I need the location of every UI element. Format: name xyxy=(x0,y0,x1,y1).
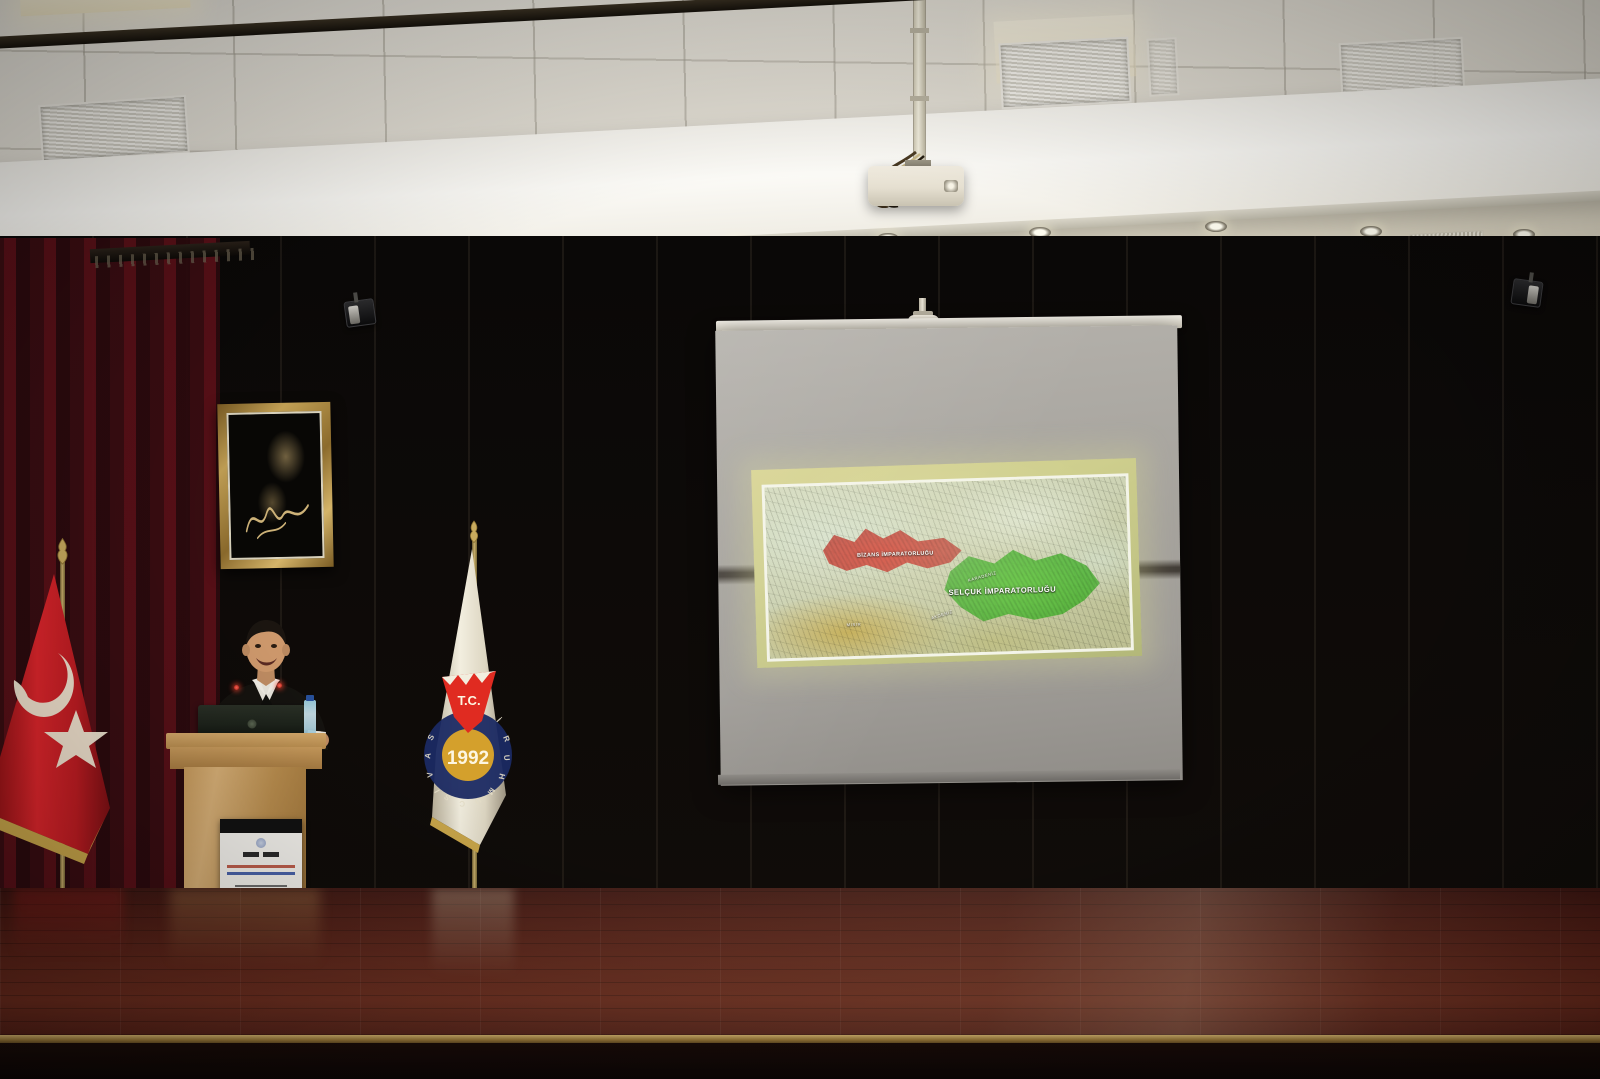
poster-headline-2 xyxy=(227,872,296,875)
region-hatching xyxy=(940,542,1101,629)
laptop-logo xyxy=(248,720,257,729)
conference-hall-photo: BİZANS İMPARATORLUĞU SELÇUK İMPARATORLUĞ… xyxy=(0,0,1600,1079)
poster-title-bars xyxy=(243,852,279,857)
svg-text:C: C xyxy=(459,799,465,808)
screen-shadow-band xyxy=(718,559,1180,585)
spotlight-arm xyxy=(1529,272,1534,282)
poster-emblem-icon xyxy=(256,838,266,848)
map-label-misir: MISIR xyxy=(847,622,862,627)
ceiling-air-vent xyxy=(1147,37,1180,96)
poster-headline-1 xyxy=(227,865,296,868)
map-terrain-texture xyxy=(765,476,1131,658)
projector-lens xyxy=(944,180,958,192)
poster-subline-1 xyxy=(235,885,287,887)
map-region-byzantine xyxy=(816,519,962,588)
portrait-mat xyxy=(226,411,324,560)
slide-glow xyxy=(751,458,1142,668)
bottle-cap xyxy=(306,695,314,701)
slide-border: BİZANS İMPARATORLUĞU SELÇUK İMPARATORLUĞ… xyxy=(762,473,1134,661)
flag-finial-icon xyxy=(54,538,71,568)
framed-portrait xyxy=(217,402,333,569)
stage-floor xyxy=(0,888,1600,1048)
microphone-indicator-led xyxy=(277,683,282,688)
projector-pole-joint xyxy=(910,28,929,33)
map-label-karadeniz: KARADENİZ xyxy=(968,570,998,583)
spotlight-lens xyxy=(348,305,360,324)
pennant-year-text: 1992 xyxy=(447,748,489,769)
turkish-flag xyxy=(0,568,112,868)
spotlight-lens xyxy=(1527,285,1539,304)
microphone-indicator-led xyxy=(234,685,239,690)
stage-front-face xyxy=(0,1043,1600,1079)
relief-map: BİZANS İMPARATORLUĞU SELÇUK İMPARATORLUĞ… xyxy=(765,476,1131,658)
pennant-finial-icon xyxy=(466,520,482,546)
ceiling-projector xyxy=(868,166,964,206)
ataturk-signature xyxy=(243,493,311,543)
projector-mount-pole xyxy=(913,0,926,165)
map-label-seljuk: SELÇUK İMPARATORLUĞU xyxy=(948,585,1056,597)
map-label-byzantine: BİZANS İMPARATORLUĞU xyxy=(857,551,934,559)
projector-pole-joint xyxy=(910,96,929,101)
map-label-akdeniz: AKDENİZ xyxy=(931,609,954,621)
projected-slide: BİZANS İMPARATORLUĞU SELÇUK İMPARATORLUĞ… xyxy=(751,458,1142,668)
poster-top-bar xyxy=(220,819,302,833)
svg-text:İ: İ xyxy=(495,716,503,724)
projection-screen: BİZANS İMPARATORLUĞU SELÇUK İMPARATORLUĞ… xyxy=(715,325,1183,786)
podium-lip xyxy=(170,747,322,769)
ceiling-air-vent xyxy=(998,37,1131,110)
stage-spotlight-right xyxy=(1510,278,1543,308)
university-pennant: 1992 T.C. S A V I S C U M H U R İ xyxy=(420,545,512,855)
region-hatching xyxy=(816,519,962,588)
recessed-downlight xyxy=(1205,221,1227,232)
pennant-tc-text: T.C. xyxy=(457,693,480,708)
svg-text:U: U xyxy=(502,755,511,762)
map-region-seljuk xyxy=(940,542,1101,629)
stage-spotlight-left xyxy=(343,298,376,328)
floor-gloss-highlight xyxy=(0,888,1600,1048)
